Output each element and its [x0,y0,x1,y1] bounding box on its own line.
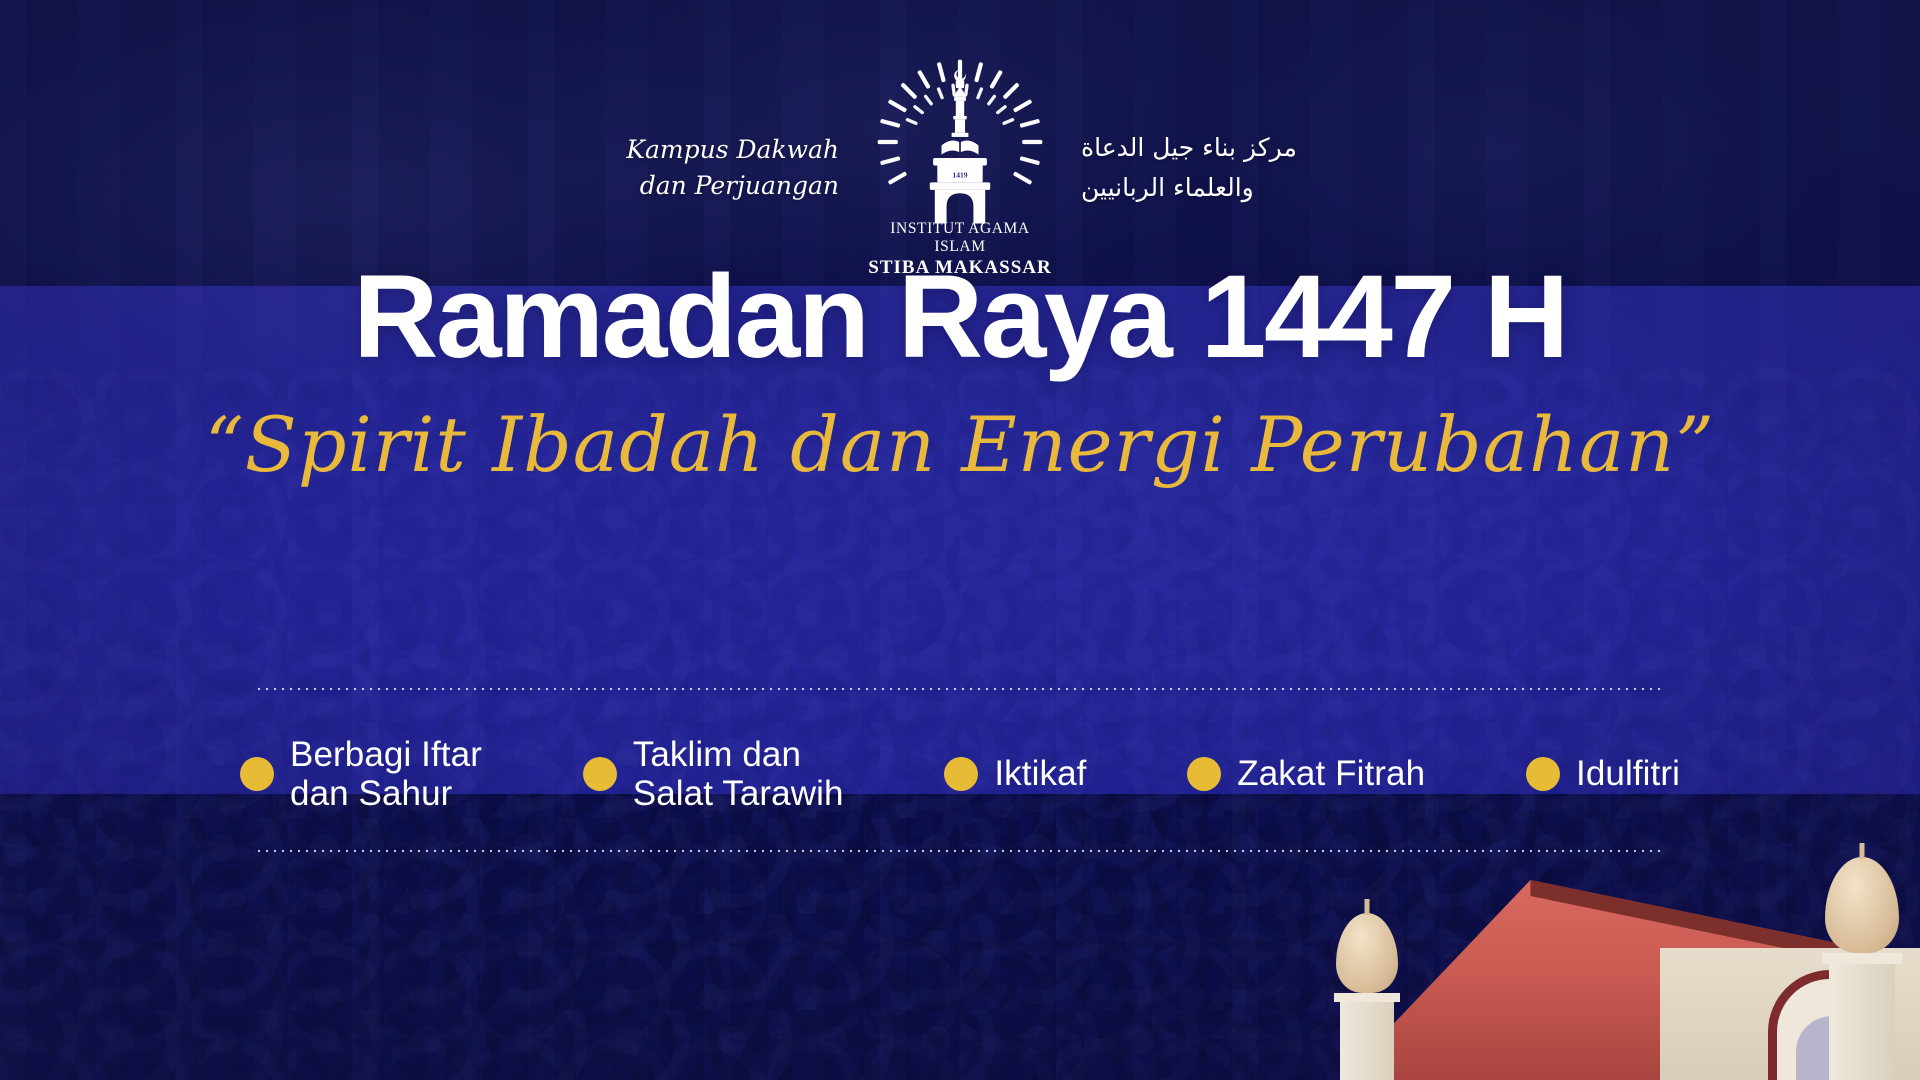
program-label: Idulfitri [1576,754,1680,793]
program-item: Berbagi Iftar dan Sahur [240,735,482,813]
program-item: Iktikaf [944,754,1086,793]
program-label: Iktikaf [994,754,1086,793]
program-item: Taklim dan Salat Tarawih [583,735,844,813]
arabic-motto-line2: والعلماء الربانيين [1081,168,1311,208]
arabic-motto-line1: مركز بناء جيل الدعاة [1081,128,1311,168]
program-item: Idulfitri [1526,754,1680,793]
arabic-motto: مركز بناء جيل الدعاة والعلماء الربانيين [1081,128,1311,208]
program-list: Berbagi Iftar dan Sahur Taklim dan Salat… [240,700,1680,848]
program-label: Berbagi Iftar dan Sahur [290,735,482,813]
mosque-gate-sunburst-icon: 1419 [876,58,1044,226]
stiba-logo: 1419 INSTITUT AGAMA ISLAM STIBA MAKASSAR [867,58,1053,279]
program-item: Zakat Fitrah [1187,754,1425,793]
bullet-dot-icon [240,757,274,791]
bullet-dot-icon [1526,757,1560,791]
header: Kampus Dakwah dan Perjuangan [0,58,1920,279]
divider-bottom [255,850,1665,852]
bullet-dot-icon [583,757,617,791]
banner-content: Kampus Dakwah dan Perjuangan [0,0,1920,1080]
event-title: Ramadan Raya 1447 H [0,258,1920,376]
divider-top [255,688,1665,690]
bullet-dot-icon [1187,757,1221,791]
program-label: Zakat Fitrah [1237,754,1425,793]
logo-founded-year: 1419 [952,170,967,179]
campus-slogan: Kampus Dakwah dan Perjuangan [609,132,839,205]
program-label: Taklim dan Salat Tarawih [633,735,844,813]
event-tagline: “Spirit Ibadah dan Energi Perubahan” [0,402,1920,487]
bullet-dot-icon [944,757,978,791]
